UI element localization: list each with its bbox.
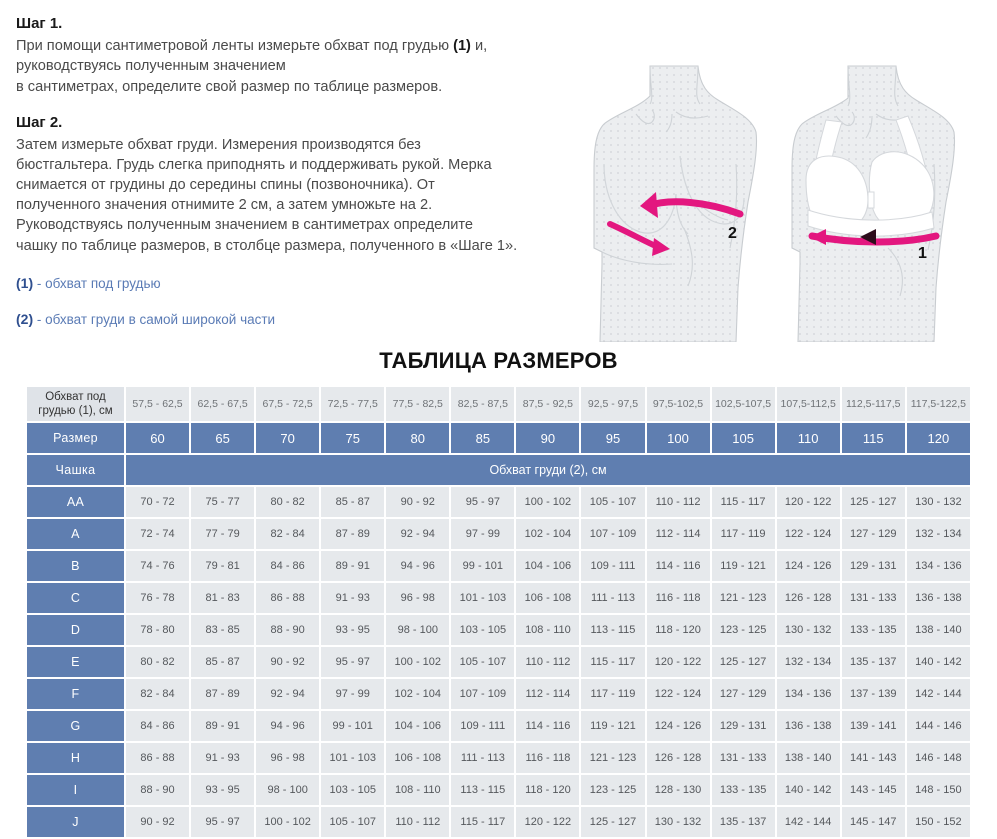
bust-cell-H-105: 131 - 133 — [712, 743, 775, 773]
torso-silhouette — [588, 52, 784, 342]
step-1-body: При помощи сантиметровой ленты измерьте … — [16, 36, 616, 96]
size-chart-body: Обхват подгрудью (1), см57,5 - 62,562,5 … — [27, 387, 970, 837]
bust-cell-A-115: 127 - 129 — [842, 519, 905, 549]
cup-label-H: H — [27, 743, 124, 773]
cup-label-F: F — [27, 679, 124, 709]
bust-cell-D-90: 108 - 110 — [516, 615, 579, 645]
size-cell-110: 110 — [777, 423, 840, 453]
table-row: H86 - 8891 - 9396 - 98101 - 103106 - 108… — [27, 743, 970, 773]
size-cell-75: 75 — [321, 423, 384, 453]
bust-cell-J-115: 145 - 147 — [842, 807, 905, 837]
bust-cell-J-75: 105 - 107 — [321, 807, 384, 837]
bust-cell-AA-105: 115 - 117 — [712, 487, 775, 517]
bust-cell-G-65: 89 - 91 — [191, 711, 254, 741]
step-1-block: Шаг 1. При помощи сантиметровой ленты из… — [16, 14, 616, 97]
bust-cell-J-60: 90 - 92 — [126, 807, 189, 837]
table-row: B74 - 7679 - 8184 - 8689 - 9194 - 9699 -… — [27, 551, 970, 581]
table-row: AA70 - 7275 - 7780 - 8285 - 8790 - 9295 … — [27, 487, 970, 517]
table-row-size: Размер6065707580859095100105110115120 — [27, 423, 970, 453]
underbust-range-cell-0: 57,5 - 62,5 — [126, 387, 189, 421]
measurement-illustrations: 2 — [588, 52, 988, 342]
bust-cell-C-95: 111 - 113 — [581, 583, 644, 613]
bust-cell-C-80: 96 - 98 — [386, 583, 449, 613]
bust-cell-G-110: 136 - 138 — [777, 711, 840, 741]
bust-cell-B-85: 99 - 101 — [451, 551, 514, 581]
bust-cell-H-70: 96 - 98 — [256, 743, 319, 773]
bust-cell-D-95: 113 - 115 — [581, 615, 644, 645]
bust-cell-I-95: 123 - 125 — [581, 775, 644, 805]
bust-cell-G-95: 119 - 121 — [581, 711, 644, 741]
torso-without-bra-illustration: 2 — [588, 52, 784, 342]
size-cell-90: 90 — [516, 423, 579, 453]
bust-span-label: Обхват груди (2), см — [126, 455, 970, 485]
bust-cell-J-105: 135 - 137 — [712, 807, 775, 837]
size-cell-85: 85 — [451, 423, 514, 453]
bust-cell-C-90: 106 - 108 — [516, 583, 579, 613]
bust-cell-A-105: 117 - 119 — [712, 519, 775, 549]
size-cell-105: 105 — [712, 423, 775, 453]
bust-cell-B-80: 94 - 96 — [386, 551, 449, 581]
bust-cell-J-95: 125 - 127 — [581, 807, 644, 837]
cup-label-B: B — [27, 551, 124, 581]
underbust-row-label: Обхват подгрудью (1), см — [27, 387, 124, 421]
step-2-title: Шаг 2. — [16, 113, 616, 133]
bust-cell-I-75: 103 - 105 — [321, 775, 384, 805]
bust-cell-F-100: 122 - 124 — [647, 679, 710, 709]
bust-cell-AA-110: 120 - 122 — [777, 487, 840, 517]
bust-cell-A-95: 107 - 109 — [581, 519, 644, 549]
legend-note-2: (2) - обхват груди в самой широкой части — [16, 310, 616, 329]
bust-cell-B-105: 119 - 121 — [712, 551, 775, 581]
bust-cell-F-80: 102 - 104 — [386, 679, 449, 709]
underbust-range-cell-2: 67,5 - 72,5 — [256, 387, 319, 421]
underbust-range-cell-4: 77,5 - 82,5 — [386, 387, 449, 421]
bust-cell-E-60: 80 - 82 — [126, 647, 189, 677]
bust-cell-D-120: 138 - 140 — [907, 615, 970, 645]
bust-cell-H-115: 141 - 143 — [842, 743, 905, 773]
bust-cell-G-70: 94 - 96 — [256, 711, 319, 741]
bust-cell-G-80: 104 - 106 — [386, 711, 449, 741]
bust-cell-C-100: 116 - 118 — [647, 583, 710, 613]
bust-cell-AA-70: 80 - 82 — [256, 487, 319, 517]
bust-cell-E-90: 110 - 112 — [516, 647, 579, 677]
underbust-range-cell-10: 107,5-112,5 — [777, 387, 840, 421]
bust-cell-D-75: 93 - 95 — [321, 615, 384, 645]
instructions-panel: Шаг 1. При помощи сантиметровой ленты из… — [16, 14, 616, 329]
bust-cell-B-115: 129 - 131 — [842, 551, 905, 581]
bust-cell-I-90: 118 - 120 — [516, 775, 579, 805]
size-cell-100: 100 — [647, 423, 710, 453]
legend-note-1-number: (1) — [16, 275, 33, 291]
bust-cell-D-115: 133 - 135 — [842, 615, 905, 645]
bust-cell-D-85: 103 - 105 — [451, 615, 514, 645]
bust-cell-B-65: 79 - 81 — [191, 551, 254, 581]
bust-cell-C-65: 81 - 83 — [191, 583, 254, 613]
bust-cell-D-110: 130 - 132 — [777, 615, 840, 645]
bust-cell-H-85: 111 - 113 — [451, 743, 514, 773]
figure-right-label: 1 — [918, 245, 927, 262]
legend-note-1: (1) - обхват под грудью — [16, 274, 616, 293]
bust-cell-AA-60: 70 - 72 — [126, 487, 189, 517]
underbust-range-cell-11: 112,5-117,5 — [842, 387, 905, 421]
bust-cell-H-95: 121 - 123 — [581, 743, 644, 773]
torso-with-bra-illustration: 1 — [784, 52, 984, 342]
bust-cell-G-100: 124 - 126 — [647, 711, 710, 741]
legend-note-2-text: - обхват груди в самой широкой части — [33, 312, 275, 327]
bust-cell-J-100: 130 - 132 — [647, 807, 710, 837]
bust-cell-B-90: 104 - 106 — [516, 551, 579, 581]
bust-cell-E-105: 125 - 127 — [712, 647, 775, 677]
bust-cell-H-65: 91 - 93 — [191, 743, 254, 773]
bust-cell-A-60: 72 - 74 — [126, 519, 189, 549]
bust-cell-F-75: 97 - 99 — [321, 679, 384, 709]
table-row-cup-header: ЧашкаОбхват груди (2), см — [27, 455, 970, 485]
table-row: D78 - 8083 - 8588 - 9093 - 9598 - 100103… — [27, 615, 970, 645]
bust-cell-H-60: 86 - 88 — [126, 743, 189, 773]
bust-cell-A-100: 112 - 114 — [647, 519, 710, 549]
cup-label-A: A — [27, 519, 124, 549]
bust-cell-G-115: 139 - 141 — [842, 711, 905, 741]
step-1-title: Шаг 1. — [16, 14, 616, 34]
underbust-range-cell-9: 102,5-107,5 — [712, 387, 775, 421]
bust-cell-G-105: 129 - 131 — [712, 711, 775, 741]
table-row-underbust: Обхват подгрудью (1), см57,5 - 62,562,5 … — [27, 387, 970, 421]
bust-cell-I-105: 133 - 135 — [712, 775, 775, 805]
bust-cell-E-110: 132 - 134 — [777, 647, 840, 677]
bust-cell-A-120: 132 - 134 — [907, 519, 970, 549]
bust-cell-B-60: 74 - 76 — [126, 551, 189, 581]
bust-cell-I-115: 143 - 145 — [842, 775, 905, 805]
cup-label-AA: AA — [27, 487, 124, 517]
bust-cell-A-90: 102 - 104 — [516, 519, 579, 549]
bust-cell-B-95: 109 - 111 — [581, 551, 644, 581]
bust-cell-B-100: 114 - 116 — [647, 551, 710, 581]
bust-cell-C-70: 86 - 88 — [256, 583, 319, 613]
page-title: ТАБЛИЦА РАЗМЕРОВ — [0, 348, 997, 374]
bust-cell-AA-100: 110 - 112 — [647, 487, 710, 517]
bust-cell-F-85: 107 - 109 — [451, 679, 514, 709]
bust-cell-J-65: 95 - 97 — [191, 807, 254, 837]
size-chart-table: Обхват подгрудью (1), см57,5 - 62,562,5 … — [25, 385, 972, 839]
bust-cell-H-90: 116 - 118 — [516, 743, 579, 773]
bust-cell-H-75: 101 - 103 — [321, 743, 384, 773]
bust-cell-E-80: 100 - 102 — [386, 647, 449, 677]
bust-cell-I-100: 128 - 130 — [647, 775, 710, 805]
size-cell-80: 80 — [386, 423, 449, 453]
bust-cell-A-75: 87 - 89 — [321, 519, 384, 549]
bust-cell-C-105: 121 - 123 — [712, 583, 775, 613]
bust-cell-AA-95: 105 - 107 — [581, 487, 644, 517]
bust-cell-B-75: 89 - 91 — [321, 551, 384, 581]
figure-left-label: 2 — [728, 225, 737, 242]
bust-cell-C-110: 126 - 128 — [777, 583, 840, 613]
bust-cell-J-110: 142 - 144 — [777, 807, 840, 837]
bust-cell-I-60: 88 - 90 — [126, 775, 189, 805]
step-2-body: Затем измерьте обхват груди. Измерения п… — [16, 135, 616, 256]
bust-cell-E-70: 90 - 92 — [256, 647, 319, 677]
bust-cell-H-110: 138 - 140 — [777, 743, 840, 773]
bust-cell-F-120: 142 - 144 — [907, 679, 970, 709]
bust-cell-A-110: 122 - 124 — [777, 519, 840, 549]
bust-cell-H-80: 106 - 108 — [386, 743, 449, 773]
bust-cell-AA-80: 90 - 92 — [386, 487, 449, 517]
bust-cell-J-120: 150 - 152 — [907, 807, 970, 837]
bust-cell-D-60: 78 - 80 — [126, 615, 189, 645]
bust-cell-G-85: 109 - 111 — [451, 711, 514, 741]
step-1-line-1: При помощи сантиметровой ленты измерьте … — [16, 38, 453, 54]
bust-cell-J-80: 110 - 112 — [386, 807, 449, 837]
bust-cell-D-80: 98 - 100 — [386, 615, 449, 645]
bust-cell-C-85: 101 - 103 — [451, 583, 514, 613]
bust-cell-F-90: 112 - 114 — [516, 679, 579, 709]
bust-cell-B-70: 84 - 86 — [256, 551, 319, 581]
bust-cell-D-70: 88 - 90 — [256, 615, 319, 645]
size-cell-70: 70 — [256, 423, 319, 453]
bust-cell-C-115: 131 - 133 — [842, 583, 905, 613]
bust-cell-B-120: 134 - 136 — [907, 551, 970, 581]
underbust-range-cell-1: 62,5 - 67,5 — [191, 387, 254, 421]
bust-cell-AA-90: 100 - 102 — [516, 487, 579, 517]
bust-cell-F-115: 137 - 139 — [842, 679, 905, 709]
bust-cell-F-70: 92 - 94 — [256, 679, 319, 709]
bust-cell-I-120: 148 - 150 — [907, 775, 970, 805]
cup-label-E: E — [27, 647, 124, 677]
bust-cell-G-75: 99 - 101 — [321, 711, 384, 741]
bust-cell-I-80: 108 - 110 — [386, 775, 449, 805]
legend-note-2-number: (2) — [16, 311, 33, 327]
bust-cell-G-120: 144 - 146 — [907, 711, 970, 741]
underbust-range-cell-12: 117,5-122,5 — [907, 387, 970, 421]
size-cell-65: 65 — [191, 423, 254, 453]
bust-cell-AA-120: 130 - 132 — [907, 487, 970, 517]
bust-cell-A-80: 92 - 94 — [386, 519, 449, 549]
bust-cell-J-85: 115 - 117 — [451, 807, 514, 837]
bust-cell-G-90: 114 - 116 — [516, 711, 579, 741]
table-row: F82 - 8487 - 8992 - 9497 - 99102 - 10410… — [27, 679, 970, 709]
bust-cell-E-120: 140 - 142 — [907, 647, 970, 677]
bust-cell-H-120: 146 - 148 — [907, 743, 970, 773]
bust-cell-I-110: 140 - 142 — [777, 775, 840, 805]
bust-cell-AA-75: 85 - 87 — [321, 487, 384, 517]
bust-cell-E-75: 95 - 97 — [321, 647, 384, 677]
cup-label-I: I — [27, 775, 124, 805]
bust-cell-E-65: 85 - 87 — [191, 647, 254, 677]
bust-cell-G-60: 84 - 86 — [126, 711, 189, 741]
bust-cell-AA-115: 125 - 127 — [842, 487, 905, 517]
underbust-range-cell-7: 92,5 - 97,5 — [581, 387, 644, 421]
step-1-ref-1: (1) — [453, 38, 471, 54]
legend-note-1-text: - обхват под грудью — [33, 276, 160, 291]
underbust-range-cell-3: 72,5 - 77,5 — [321, 387, 384, 421]
table-row: A72 - 7477 - 7982 - 8487 - 8992 - 9497 -… — [27, 519, 970, 549]
cup-label-J: J — [27, 807, 124, 837]
cup-label-C: C — [27, 583, 124, 613]
bust-cell-D-100: 118 - 120 — [647, 615, 710, 645]
size-row-label: Размер — [27, 423, 124, 453]
bust-cell-D-65: 83 - 85 — [191, 615, 254, 645]
bust-cell-B-110: 124 - 126 — [777, 551, 840, 581]
table-row: J90 - 9295 - 97100 - 102105 - 107110 - 1… — [27, 807, 970, 837]
table-row: G84 - 8689 - 9194 - 9699 - 101104 - 1061… — [27, 711, 970, 741]
bust-cell-J-70: 100 - 102 — [256, 807, 319, 837]
bust-cell-D-105: 123 - 125 — [712, 615, 775, 645]
underbust-range-cell-6: 87,5 - 92,5 — [516, 387, 579, 421]
bust-cell-I-85: 113 - 115 — [451, 775, 514, 805]
size-cell-60: 60 — [126, 423, 189, 453]
bust-cell-C-75: 91 - 93 — [321, 583, 384, 613]
step-2-block: Шаг 2. Затем измерьте обхват груди. Изме… — [16, 113, 616, 256]
size-cell-95: 95 — [581, 423, 644, 453]
bust-cell-AA-65: 75 - 77 — [191, 487, 254, 517]
bust-cell-A-65: 77 - 79 — [191, 519, 254, 549]
bust-cell-E-95: 115 - 117 — [581, 647, 644, 677]
bust-cell-H-100: 126 - 128 — [647, 743, 710, 773]
bust-cell-A-70: 82 - 84 — [256, 519, 319, 549]
bust-cell-I-65: 93 - 95 — [191, 775, 254, 805]
underbust-range-cell-8: 97,5-102,5 — [647, 387, 710, 421]
bust-cell-F-65: 87 - 89 — [191, 679, 254, 709]
size-cell-115: 115 — [842, 423, 905, 453]
bust-cell-E-100: 120 - 122 — [647, 647, 710, 677]
cup-row-label: Чашка — [27, 455, 124, 485]
bust-cell-E-85: 105 - 107 — [451, 647, 514, 677]
cup-label-D: D — [27, 615, 124, 645]
table-row: I88 - 9093 - 9598 - 100103 - 105108 - 11… — [27, 775, 970, 805]
cup-label-G: G — [27, 711, 124, 741]
bust-cell-I-70: 98 - 100 — [256, 775, 319, 805]
bust-cell-F-110: 134 - 136 — [777, 679, 840, 709]
table-row: C76 - 7881 - 8386 - 8891 - 9396 - 98101 … — [27, 583, 970, 613]
bust-cell-F-105: 127 - 129 — [712, 679, 775, 709]
bust-cell-F-60: 82 - 84 — [126, 679, 189, 709]
bust-cell-F-95: 117 - 119 — [581, 679, 644, 709]
bust-cell-AA-85: 95 - 97 — [451, 487, 514, 517]
bust-cell-A-85: 97 - 99 — [451, 519, 514, 549]
table-row: E80 - 8285 - 8790 - 9295 - 97100 - 10210… — [27, 647, 970, 677]
size-cell-120: 120 — [907, 423, 970, 453]
bust-cell-J-90: 120 - 122 — [516, 807, 579, 837]
bust-cell-C-60: 76 - 78 — [126, 583, 189, 613]
bust-cell-C-120: 136 - 138 — [907, 583, 970, 613]
underbust-range-cell-5: 82,5 - 87,5 — [451, 387, 514, 421]
bust-cell-E-115: 135 - 137 — [842, 647, 905, 677]
